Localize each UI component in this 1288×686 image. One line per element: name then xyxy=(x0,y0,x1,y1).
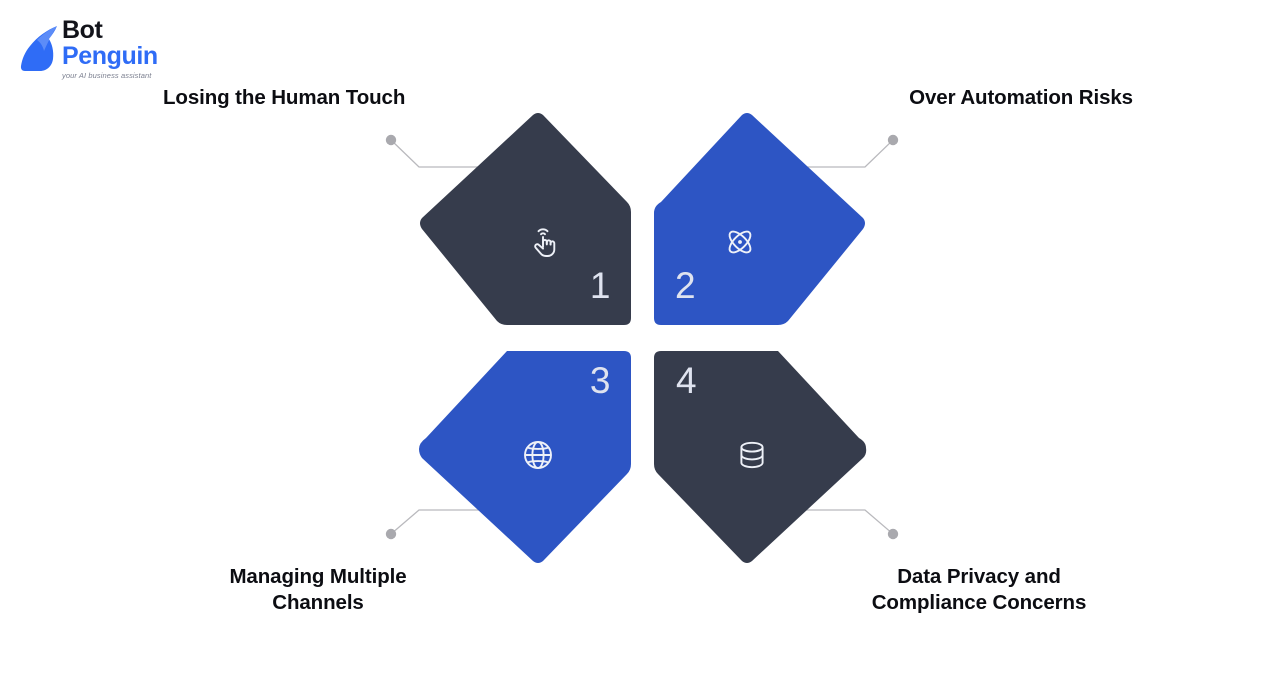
node-number-2: 2 xyxy=(675,267,696,304)
diagram-node-3[interactable]: 3 xyxy=(417,348,633,564)
atom-icon xyxy=(720,222,760,262)
diagram-node-4[interactable]: 4 xyxy=(652,348,868,564)
node-label-3: Managing Multiple Channels xyxy=(205,564,431,616)
node-label-2: Over Automation Risks xyxy=(909,85,1133,111)
globe-icon xyxy=(518,435,558,475)
connector-dot-3 xyxy=(386,529,396,539)
pentagon-pinwheel-diagram: 1 2 xyxy=(0,0,1288,686)
node-number-3: 3 xyxy=(590,362,611,399)
tap-gesture-icon xyxy=(525,222,565,262)
node-number-4: 4 xyxy=(676,362,697,399)
diagram-node-1[interactable]: 1 xyxy=(417,112,633,328)
node-label-1: Losing the Human Touch xyxy=(163,85,405,111)
diagram-node-2[interactable]: 2 xyxy=(652,112,868,328)
connector-dot-1 xyxy=(386,135,396,145)
connector-dot-2 xyxy=(888,135,898,145)
node-label-4: Data Privacy and Compliance Concerns xyxy=(856,564,1102,616)
node-number-1: 1 xyxy=(590,267,611,304)
database-icon xyxy=(732,435,772,475)
connector-dot-4 xyxy=(888,529,898,539)
